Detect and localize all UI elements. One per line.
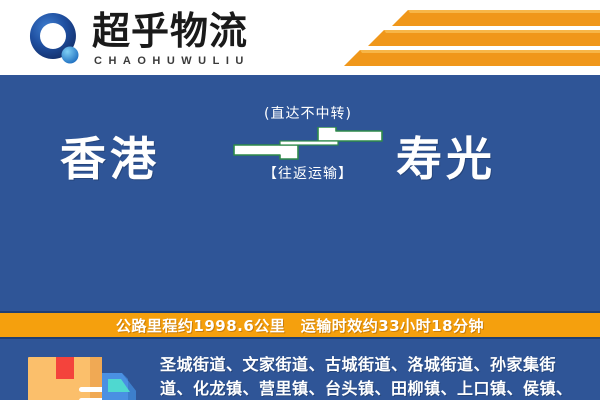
coverage-area-list: 圣城街道、文家街道、古城街道、洛城街道、孙家集街道、化龙镇、营里镇、台头镇、田柳… [160,353,586,400]
route-middle: (直达不中转) 【往返运输】 [232,105,384,205]
brand-logo: 超乎物流 CHAOHUWULIU [26,8,276,68]
distance-duration-bar: 公路里程约1998.6公里 运输时效约33小时18分钟 [0,311,600,339]
delivery-truck-icon [22,355,142,400]
round-trip-note: 【往返运输】 [232,165,384,183]
direct-route-note: (直达不中转) [232,105,384,123]
bidirectional-arrow-icon [232,127,384,161]
logistics-route-poster: 超乎物流 CHAOHUWULIU 香港 (直达不中转) [0,0,600,400]
origin-city: 香港 [60,123,160,189]
destination-city: 寿光 [396,123,496,189]
route-row: 香港 (直达不中转) 【往返运输】 寿光 [0,105,600,205]
orange-stripes-icon [280,8,600,66]
coverage-section: 圣城街道、文家街道、古城街道、洛城街道、孙家集街道、化龙镇、营里镇、台头镇、田柳… [0,341,600,400]
main-blue-panel: 香港 (直达不中转) 【往返运输】 寿光 公路里程约1998.6公里 运输时效约… [0,75,600,400]
distance-duration-text: 公路里程约1998.6公里 运输时效约33小时18分钟 [116,315,484,336]
brand-name-en: CHAOHUWULIU [94,55,250,67]
brand-name-cn: 超乎物流 [92,10,248,52]
circle-crescent-logo-icon [26,10,84,68]
poster-header: 超乎物流 CHAOHUWULIU [0,0,600,75]
